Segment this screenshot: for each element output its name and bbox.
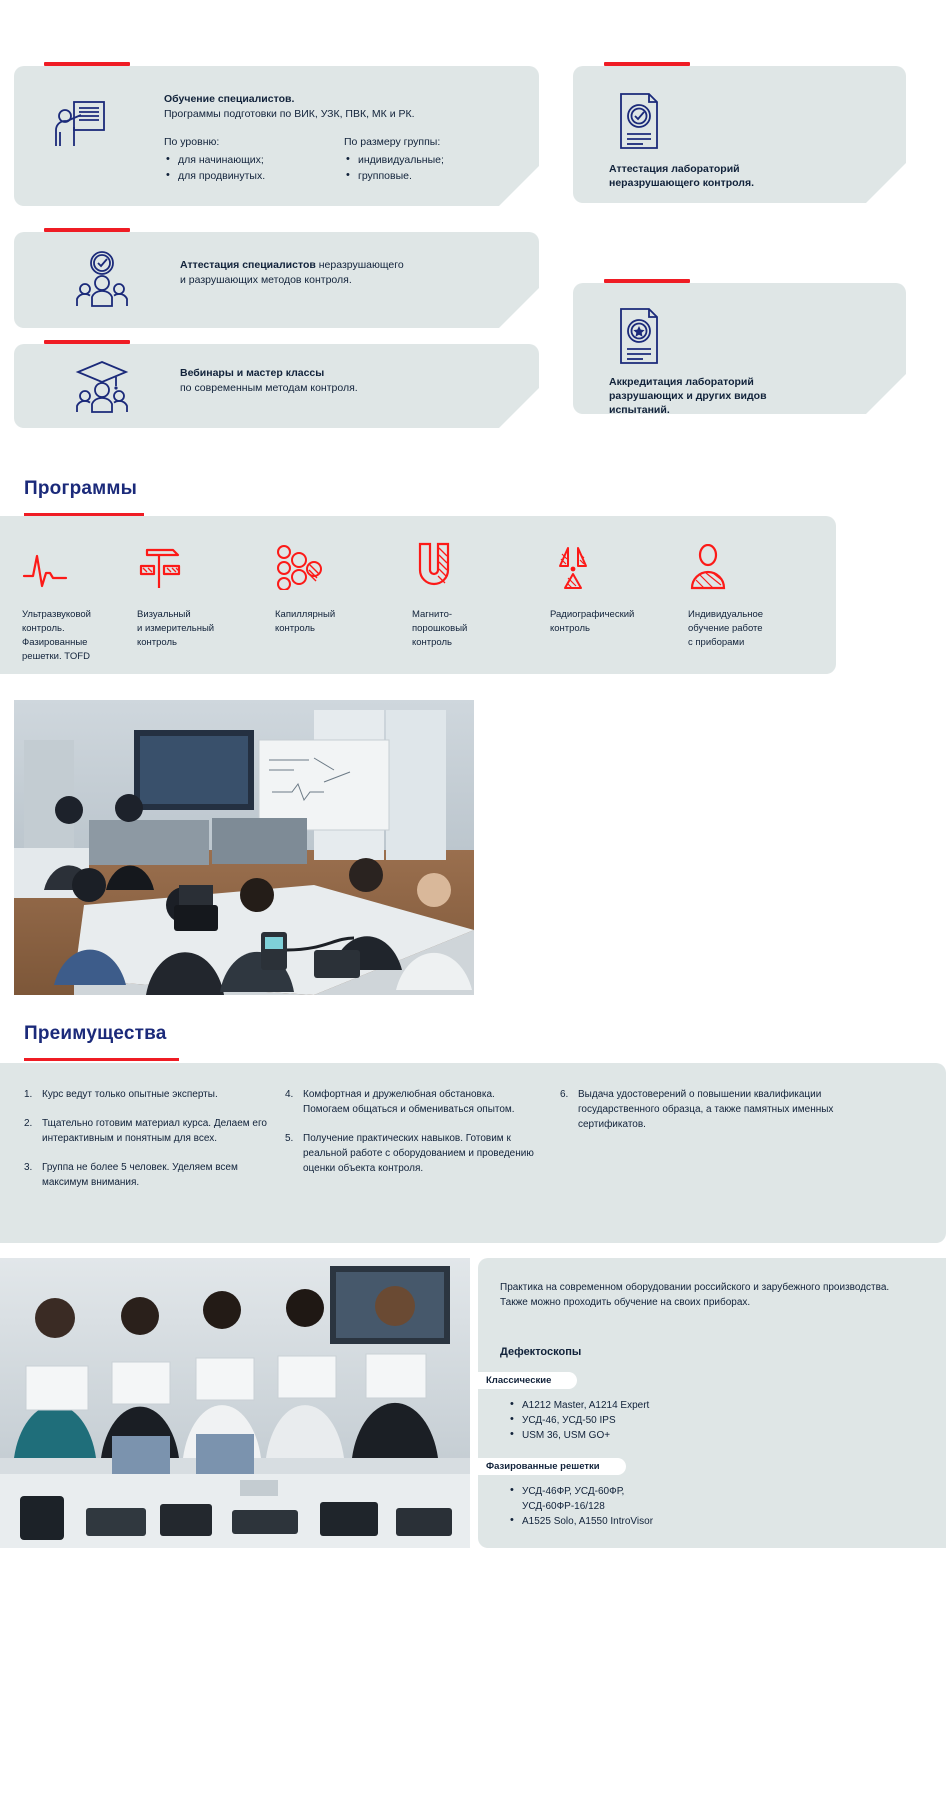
card-webinars: Вебинары и мастер классы по современным …	[14, 344, 539, 428]
equipment-panel: Практика на современном оборудовании рос…	[478, 1258, 946, 1548]
list-number: 1.	[24, 1087, 42, 1102]
card-attestation-body: Аттестация специалистов неразрушающего и…	[180, 258, 520, 288]
program-item-visual[interactable]: Визуальный и измерительный контроль	[137, 546, 257, 650]
list-item: 6. Выдача удостоверений о повышении квал…	[560, 1087, 850, 1132]
program-item-individual[interactable]: Индивидуальное обучение работе с прибора…	[688, 546, 808, 650]
list-text: Тщательно готовим материал курса. Делаем…	[42, 1116, 274, 1146]
photo-graduates-certificates	[0, 1258, 470, 1548]
training-level-head: По уровню:	[164, 136, 344, 148]
program-label: Капиллярный контроль	[275, 608, 395, 636]
list-text: Группа не более 5 человек. Уделяем всем …	[42, 1160, 274, 1190]
photo-classroom-training	[14, 700, 474, 995]
list-number: 2.	[24, 1116, 42, 1146]
page-title-programs: Программы	[24, 478, 137, 500]
card-webinars-body: Вебинары и мастер классы по современным …	[180, 366, 520, 396]
equipment-title: Дефектоскопы	[500, 1346, 581, 1358]
presenter-board-icon	[52, 96, 108, 157]
equipment-group-phased-list: УСД-46ФР, УСД-60ФР, УСД-60ФР-16/128 A152…	[510, 1484, 653, 1529]
page-title-advantages: Преимущества	[24, 1023, 167, 1045]
card-attestation-line2: и разрушающих методов контроля.	[180, 273, 520, 288]
equipment-group-phased-label: Фазированные решетки	[478, 1458, 626, 1475]
list-item: для продвинутых.	[164, 168, 344, 184]
card-lab-accreditation-line1: Аккредитация лабораторий	[609, 375, 879, 389]
equipment-intro: Практика на современном оборудовании рос…	[500, 1280, 900, 1310]
list-text: Курс ведут только опытные эксперты.	[42, 1087, 218, 1102]
list-item: индивидуальные;	[344, 152, 524, 168]
card-attestation-rest: неразрушающего	[316, 259, 404, 271]
equipment-group-classic-list: A1212 Master, A1214 Expert УСД-46, УСД-5…	[510, 1398, 649, 1443]
card-attestation-title: Аттестация специалистов	[180, 259, 316, 271]
graduation-people-icon	[72, 356, 132, 419]
training-groupsize-head: По размеру группы:	[344, 136, 524, 148]
programs-band: Ультразвуковой контроль. Фазированные ре…	[0, 516, 836, 674]
card-lab-accreditation: Аккредитация лабораторий разрушающих и д…	[573, 283, 906, 414]
training-groupsize-column: По размеру группы: индивидуальные; групп…	[344, 136, 524, 184]
card-training-body: Обучение специалистов. Программы подгото…	[164, 92, 524, 184]
card-lab-attestation: Аттестация лабораторий неразрушающего ко…	[573, 66, 906, 203]
list-item: 2. Тщательно готовим материал курса. Дел…	[24, 1116, 274, 1146]
list-item: 1. Курс ведут только опытные эксперты.	[24, 1087, 274, 1102]
program-item-ultrasonic[interactable]: Ультразвуковой контроль. Фазированные ре…	[22, 546, 142, 664]
advantages-column-2: 4. Комфортная и дружелюбная обстанов­ка.…	[285, 1087, 535, 1190]
list-number: 3.	[24, 1160, 42, 1190]
list-item: групповые.	[344, 168, 524, 184]
card-lab-accreditation-line2: разрушающих и других видов	[609, 389, 879, 403]
card-attestation-specialists: Аттестация специалистов неразрушающего и…	[14, 232, 539, 328]
program-label: Радиографический контроль	[550, 608, 670, 636]
card-training-title: Обучение специалистов.	[164, 92, 524, 107]
droplets-icon	[275, 546, 395, 590]
program-item-magnetic[interactable]: Магнито- порошковый контроль	[412, 546, 532, 650]
list-item: USM 36, USM GO+	[510, 1428, 649, 1443]
training-level-column: По уровню: для начинающих; для продвинут…	[164, 136, 344, 184]
list-text: Выдача удостоверений о повышении квалифи…	[578, 1087, 850, 1132]
waveform-icon	[22, 546, 142, 590]
advantages-band: 1. Курс ведут только опытные эксперты. 2…	[0, 1063, 946, 1243]
people-check-icon	[72, 248, 132, 315]
program-label: Ультразвуковой контроль. Фазированные ре…	[22, 608, 142, 664]
list-item: A1525 Solo, A1550 IntroVisor	[510, 1514, 653, 1529]
magnet-icon	[412, 546, 532, 590]
program-item-penetrant[interactable]: Капиллярный контроль	[275, 546, 395, 636]
list-number: 5.	[285, 1131, 303, 1176]
card-webinars-line2: по современным методам контроля.	[180, 381, 520, 396]
section-underline	[24, 1058, 179, 1061]
card-lab-attestation-body: Аттестация лабораторий неразрушающего ко…	[609, 162, 879, 190]
card-training-subtitle: Программы подготовки по ВИК, УЗК, ПВК, М…	[164, 107, 524, 122]
list-text: Получение практических навыков. Готовим …	[303, 1131, 535, 1176]
list-item: УСД-46, УСД-50 IPS	[510, 1413, 649, 1428]
list-item: 5. Получение практических навыков. Готов…	[285, 1131, 535, 1176]
list-item: для начинающих;	[164, 152, 344, 168]
person-icon	[688, 546, 808, 590]
advantages-column-1: 1. Курс ведут только опытные эксперты. 2…	[24, 1087, 274, 1204]
card-lab-accreditation-line3: испытаний.	[609, 403, 879, 417]
page-root: Обучение специалистов. Программы подгото…	[0, 0, 946, 1801]
program-label: Индивидуальное обучение работе с прибора…	[688, 608, 808, 650]
program-label: Визуальный и измерительный контроль	[137, 608, 257, 650]
document-star-icon	[613, 305, 665, 372]
program-label: Магнито- порошковый контроль	[412, 608, 532, 650]
card-training: Обучение специалистов. Программы подгото…	[14, 66, 539, 206]
program-item-radiographic[interactable]: Радиографический контроль	[550, 546, 670, 636]
list-item: A1212 Master, A1214 Expert	[510, 1398, 649, 1413]
list-text: Комфортная и дружелюбная обстанов­ка. По…	[303, 1087, 535, 1117]
list-number: 4.	[285, 1087, 303, 1117]
list-item: УСД-46ФР, УСД-60ФР, УСД-60ФР-16/128	[510, 1484, 653, 1514]
list-item: 4. Комфортная и дружелюбная обстанов­ка.…	[285, 1087, 535, 1117]
card-lab-attestation-line1: Аттестация лабораторий	[609, 162, 879, 176]
list-item: 3. Группа не более 5 человек. Уделяем вс…	[24, 1160, 274, 1190]
caliper-icon	[137, 546, 257, 590]
list-number: 6.	[560, 1087, 578, 1132]
advantages-column-3: 6. Выдача удостоверений о повышении квал…	[560, 1087, 850, 1146]
equipment-group-classic-label: Классические	[478, 1372, 577, 1389]
radiation-icon	[550, 546, 670, 590]
document-check-icon	[613, 90, 665, 157]
card-lab-accreditation-body: Аккредитация лабораторий разрушающих и д…	[609, 375, 879, 417]
card-lab-attestation-line2: неразрушающего контроля.	[609, 176, 879, 190]
card-webinars-title: Вебинары и мастер классы	[180, 366, 520, 381]
